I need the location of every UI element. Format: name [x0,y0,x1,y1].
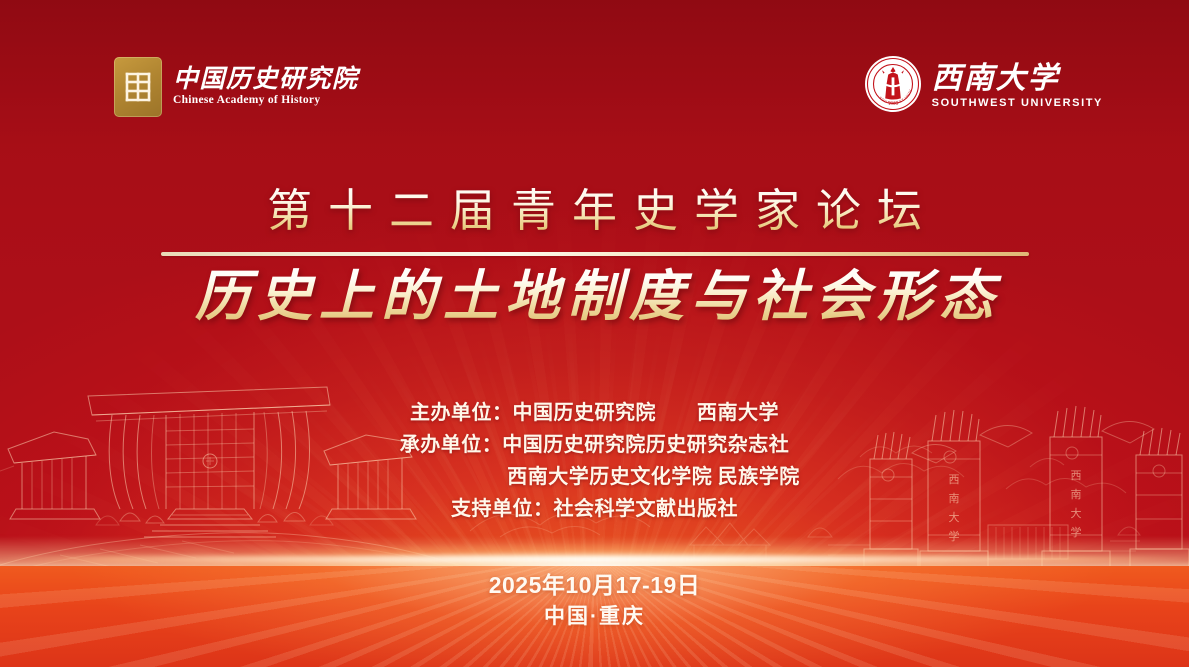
swu-name-en: SOUTHWEST UNIVERSITY [932,98,1103,109]
swu-name-cn: 西南大学 [932,64,1060,94]
organizer-line-coorganizer: 承办单位：中国历史研究院历史研究杂志社 [0,429,1189,461]
title-divider-rule [161,252,1029,256]
cah-wordmark: 中国历史研究院 Chinese Academy of History [173,67,359,107]
svg-text:1906: 1906 [888,102,899,107]
footer-block: 2025年10月17-19日 中国·重庆 [0,570,1189,632]
organizer-line-coorganizer-2: 西南大学历史文化学院 民族学院 [0,461,1189,493]
logo-chinese-academy-of-history: 中国历史研究院 Chinese Academy of History [114,57,359,117]
conference-poster: 西 南 大 学 西 南 大 学 [0,0,1189,667]
seal-square-icon [114,57,162,117]
swu-circular-emblem-icon: SOUTHWEST UNIVERSITY 1906 [864,55,922,118]
organizer-line-supporter: 支持单位：社会科学文献出版社 [0,493,1189,525]
title-block: 第十二届青年史学家论坛 历史上的土地制度与社会形态 [0,183,1189,328]
event-location: 中国·重庆 [0,601,1189,632]
forum-title: 第十二届青年史学家论坛 [0,183,1189,241]
forum-subtitle: 历史上的土地制度与社会形态 [0,265,1189,329]
cah-name-en: Chinese Academy of History [173,95,359,107]
cah-name-cn: 中国历史研究院 [173,67,359,92]
swu-wordmark: 西南大学 SOUTHWEST UNIVERSITY [932,64,1103,109]
organizer-block: 主办单位：中国历史研究院 西南大学 承办单位：中国历史研究院历史研究杂志社 西南… [0,397,1189,525]
organizer-line-host: 主办单位：中国历史研究院 西南大学 [0,397,1189,429]
event-date: 2025年10月17-19日 [0,570,1189,601]
logo-southwest-university: SOUTHWEST UNIVERSITY 1906 西南大学 SOUTHWEST… [864,55,1103,118]
